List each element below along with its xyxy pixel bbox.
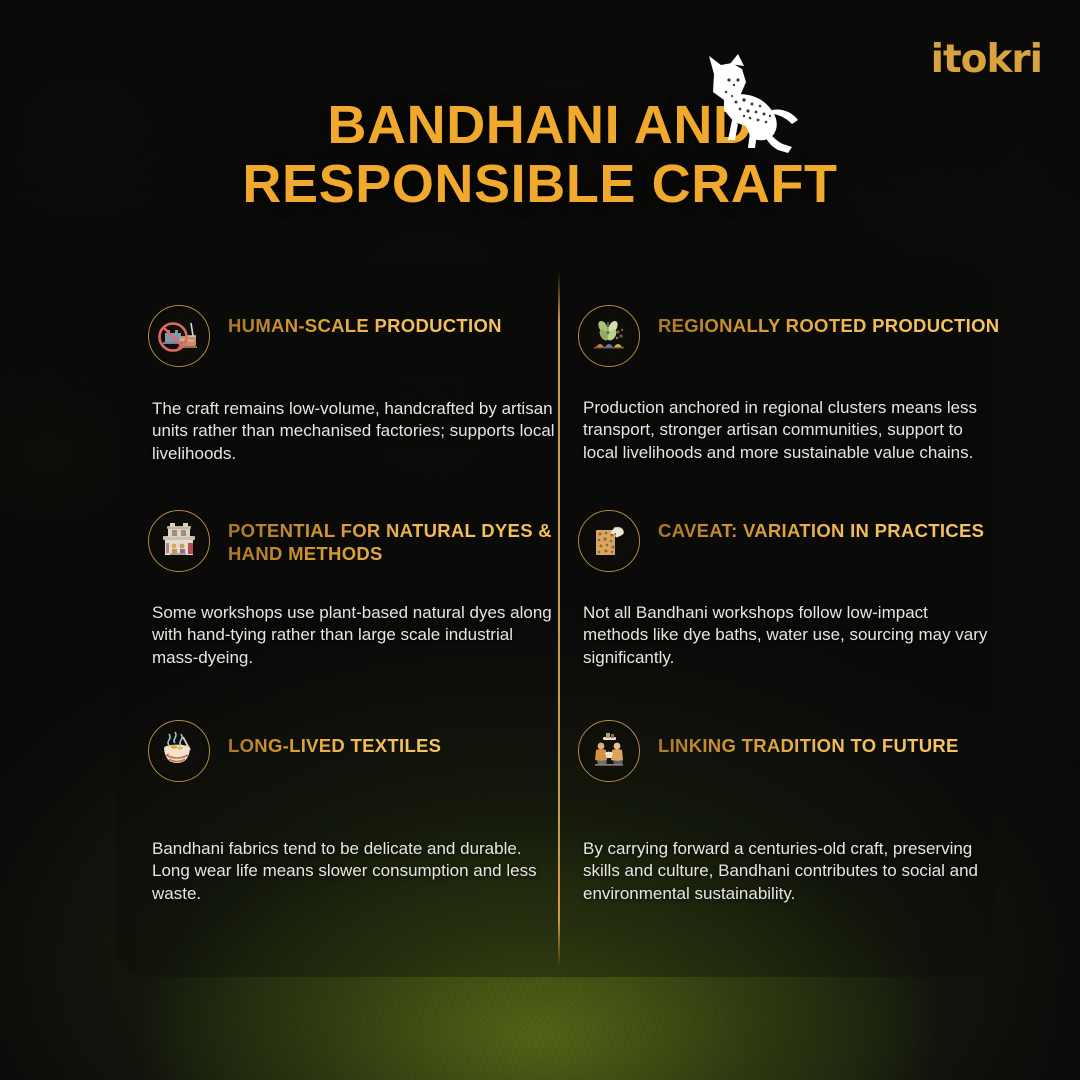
feature-title: REGIONALLY ROOTED PRODUCTION [658, 305, 999, 337]
feature-item-caveat-variation-in-practices: CAVEAT: VARIATION IN PRACTICES Not all B… [578, 510, 1008, 669]
feature-grid: HUMAN-SCALE PRODUCTION The craft remains… [117, 265, 995, 977]
feature-header: REGIONALLY ROOTED PRODUCTION [578, 305, 1008, 367]
feature-body: Some workshops use plant-based natural d… [152, 602, 562, 669]
two-artisans-weaving-icon [578, 720, 640, 782]
feature-title: LONG-LIVED TEXTILES [228, 720, 441, 757]
feature-title: LINKING TRADITION TO FUTURE [658, 720, 959, 757]
feature-item-long-lived-textiles: LONG-LIVED TEXTILES Bandhani fabrics ten… [148, 720, 578, 905]
feature-title: POTENTIAL FOR NATURAL DYES & HAND METHOD… [228, 510, 578, 566]
feature-item-regionally-rooted-production: REGIONALLY ROOTED PRODUCTION Production … [578, 305, 1008, 464]
feature-body: Not all Bandhani workshops follow low-im… [583, 602, 993, 669]
steaming-dye-pot-icon [148, 720, 210, 782]
page-title: BANDHANI AND RESPONSIBLE CRAFT [0, 96, 1080, 214]
no-factory-machine-icon [148, 305, 210, 367]
feature-title: HUMAN-SCALE PRODUCTION [228, 305, 502, 337]
brand-logo-text: itokri [931, 37, 1042, 82]
hand-holding-bandhani-fabric-icon [578, 510, 640, 572]
feature-item-human-scale-production: HUMAN-SCALE PRODUCTION The craft remains… [148, 305, 578, 465]
feature-item-natural-dyes-hand-methods: POTENTIAL FOR NATURAL DYES & HAND METHOD… [148, 510, 578, 669]
feature-body: The craft remains low-volume, handcrafte… [152, 398, 562, 465]
feature-body: Production anchored in regional clusters… [583, 397, 993, 464]
artisan-workshop-building-icon [148, 510, 210, 572]
feature-body: Bandhani fabrics tend to be delicate and… [152, 838, 562, 905]
feature-header: HUMAN-SCALE PRODUCTION [148, 305, 578, 367]
cat-illustration-icon [688, 52, 804, 160]
page-title-line-2: RESPONSIBLE CRAFT [0, 155, 1080, 214]
feature-title: CAVEAT: VARIATION IN PRACTICES [658, 510, 984, 542]
brand-logo[interactable]: itokri [931, 40, 1042, 79]
feature-header: CAVEAT: VARIATION IN PRACTICES [578, 510, 1008, 572]
feature-body: By carrying forward a centuries-old craf… [583, 838, 993, 905]
feature-item-linking-tradition-to-future: LINKING TRADITION TO FUTURE By carrying … [578, 720, 1008, 905]
natural-dye-leaves-powders-icon [578, 305, 640, 367]
feature-header: LONG-LIVED TEXTILES [148, 720, 578, 782]
infographic-poster: itokri BANDHANI AND RESPONSIBLE CRAFT [0, 0, 1080, 1080]
feature-header: LINKING TRADITION TO FUTURE [578, 720, 1008, 782]
feature-header: POTENTIAL FOR NATURAL DYES & HAND METHOD… [148, 510, 578, 572]
